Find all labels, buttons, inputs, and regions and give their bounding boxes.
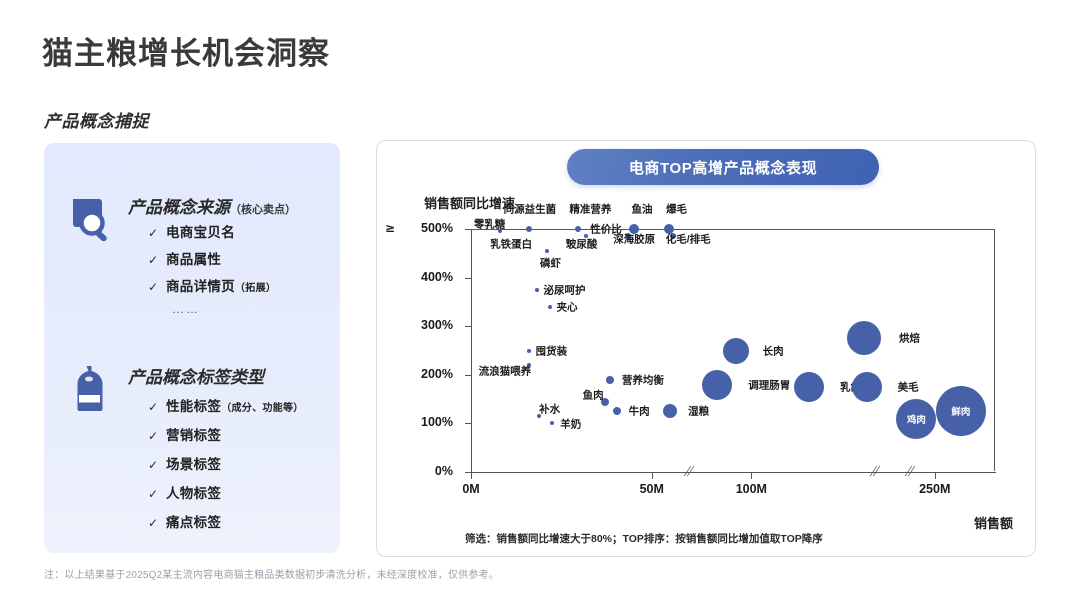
list-item[interactable]: ✓ 商品属性 [148, 248, 276, 268]
chart-banner: 电商TOP高增产品概念表现 [567, 149, 879, 185]
concept-source-heading-text: 产品概念来源 [128, 198, 230, 217]
check-icon: ✓ [148, 487, 166, 501]
chart-filter-note: 筛选：销售额同比增速大于80%；TOP排序：按销售额同比增加值取TOP降序 [465, 531, 823, 546]
concept-source-heading: 产品概念来源（核心卖点） [128, 193, 296, 218]
scatter-point-label: 流浪猫喂养 [479, 364, 532, 379]
y-axis-tick [465, 229, 472, 230]
y-axis-tick [465, 423, 472, 424]
scatter-bubble[interactable] [527, 349, 531, 353]
y-axis-ge-sign: ≥ [385, 221, 395, 235]
list-item-label: 性能标签 [166, 399, 221, 414]
y-axis-line [471, 229, 472, 473]
x-axis-tick [935, 472, 936, 479]
slide-root: 猫主粮增长机会洞察 产品概念捕捉 产品概念来源（核心卖点） ✓ 电商宝贝名 [0, 0, 1080, 608]
scatter-point-label: 牛肉 [629, 404, 650, 419]
list-item[interactable]: ✓ 电商宝贝名 [148, 221, 276, 241]
x-axis-tick-label: 250M [919, 482, 950, 496]
scatter-point-label: 零乳糖 [474, 217, 506, 232]
scatter-bubble[interactable] [548, 305, 552, 309]
list-item-label: 商品属性 [166, 252, 221, 267]
scatter-point-label: 精准营养 [569, 202, 611, 217]
scatter-bubble-label: 鸡肉 [907, 412, 926, 426]
scatter-bubble[interactable] [606, 376, 614, 384]
check-icon: ✓ [148, 280, 166, 294]
scatter-point-label: 烘焙 [899, 331, 920, 346]
check-icon: ✓ [148, 253, 166, 267]
scatter-point-label: 营养均衡 [622, 372, 664, 387]
list-item[interactable]: ✓ 性能标签（成分、功能等） [148, 395, 304, 415]
scatter-point-label: 磷虾 [540, 255, 561, 270]
price-tag-icon [62, 359, 118, 419]
scatter-bubble[interactable] [794, 372, 824, 402]
list-item[interactable]: ✓ 营销标签 [148, 424, 304, 444]
scatter-point-label: 囤货装 [536, 343, 568, 358]
x-axis-title: 销售额 [974, 513, 1013, 532]
y-axis-tick-label: 0% [391, 464, 453, 478]
scatter-point-label: 调理肠胃 [748, 377, 790, 392]
scatter-point-label: 羊奶 [560, 417, 581, 432]
y-axis-tick-label: 400% [391, 270, 453, 284]
y-axis-tick-label: 300% [391, 318, 453, 332]
scatter-bubble[interactable] [535, 288, 539, 292]
scatter-bubble[interactable] [526, 226, 532, 232]
scatter-point-label: 乳铁蛋白 [490, 237, 532, 252]
y-axis-tick-label: 500% [391, 221, 453, 235]
document-search-icon [62, 189, 118, 249]
scatter-bubble[interactable] [723, 338, 749, 364]
scatter-point-label: 玻尿酸 [566, 237, 598, 252]
scatter-point-label: 爆毛 [666, 202, 687, 217]
chart-banner-title: 电商TOP高增产品概念表现 [629, 157, 817, 178]
check-icon: ✓ [148, 226, 166, 240]
y-axis-tick-label: 100% [391, 415, 453, 429]
concept-tag-heading: 产品概念标签类型 [128, 363, 264, 388]
list-item-note: （拓展） [235, 283, 276, 294]
list-item[interactable]: ✓ 人物标签 [148, 482, 304, 502]
scatter-bubble[interactable] [613, 407, 621, 415]
list-item-label: 电商宝贝名 [166, 225, 235, 240]
scatter-point-label: 夹心 [557, 299, 578, 314]
x-axis-tick [471, 472, 472, 479]
scatter-point-label: 化毛/排毛 [666, 232, 711, 247]
scatter-point-label: 深海胶原 [613, 232, 655, 247]
check-icon: ✓ [148, 429, 166, 443]
scatter-point-label: 鱼肉 [583, 387, 604, 402]
y-axis-tick [465, 326, 472, 327]
scatter-bubble[interactable]: 鲜肉 [936, 386, 986, 436]
concept-source-heading-note: （核心卖点） [230, 204, 296, 216]
y-axis-tick-label: 200% [391, 367, 453, 381]
scatter-point-label: 湿粮 [688, 404, 709, 419]
x-axis-tick-label: 0M [462, 482, 479, 496]
check-icon: ✓ [148, 516, 166, 530]
x-axis-line [471, 472, 996, 473]
scatter-point-label: 同源益生菌 [504, 202, 557, 217]
scatter-bubble[interactable] [545, 249, 549, 253]
x-axis-tick-label: 100M [736, 482, 767, 496]
scatter-bubble[interactable] [575, 226, 581, 232]
list-item-note: （成分、功能等） [221, 403, 303, 414]
section-title: 产品概念捕捉 [44, 107, 149, 132]
scatter-point-label: 泌尿呵护 [544, 282, 586, 297]
check-icon: ✓ [148, 400, 166, 414]
scatter-point-label: 美毛 [898, 379, 919, 394]
y-axis-tick [465, 375, 472, 376]
x-axis-tick [751, 472, 752, 479]
concept-source-ellipsis: …… [172, 302, 200, 316]
concept-source-list: ✓ 电商宝贝名 ✓ 商品属性 ✓ 商品详情页（拓展） [148, 221, 276, 302]
list-item[interactable]: ✓ 商品详情页（拓展） [148, 275, 276, 295]
concept-capture-card: 产品概念来源（核心卖点） ✓ 电商宝贝名 ✓ 商品属性 ✓ 商品详情页（拓展） … [44, 143, 340, 553]
list-item[interactable]: ✓ 场景标签 [148, 453, 304, 473]
x-axis-tick-label: 50M [640, 482, 664, 496]
chart-panel: 电商TOP高增产品概念表现 销售额同比增速 销售额 0%100%200%300%… [376, 140, 1036, 557]
page-title: 猫主粮增长机会洞察 [42, 28, 330, 73]
list-item-label: 商品详情页 [166, 279, 235, 294]
check-icon: ✓ [148, 458, 166, 472]
scatter-point-label: 补水 [539, 402, 560, 417]
list-item-label: 人物标签 [166, 486, 221, 501]
scatter-bubble[interactable] [702, 370, 732, 400]
scatter-bubble-label: 鲜肉 [951, 404, 970, 418]
slide-footnote: 注：以上结果基于2025Q2某主流内容电商猫主粮品类数据初步清洗分析，未经深度校… [44, 566, 499, 581]
concept-tag-heading-text: 产品概念标签类型 [128, 368, 264, 387]
y-axis-title: 销售额同比增速 [424, 193, 515, 212]
list-item-label: 场景标签 [166, 457, 221, 472]
concept-tag-ellipsis: …… [172, 508, 200, 522]
x-axis-tick [652, 472, 653, 479]
y-axis-tick [465, 278, 472, 279]
scatter-bubble[interactable] [847, 321, 881, 355]
list-item-label: 营销标签 [166, 428, 221, 443]
scatter-bubble[interactable]: 鸡肉 [896, 399, 936, 439]
scatter-bubble[interactable] [550, 421, 554, 425]
scatter-point-label: 鱼油 [631, 202, 652, 217]
scatter-bubble[interactable] [663, 404, 677, 418]
scatter-bubble[interactable] [852, 372, 882, 402]
scatter-point-label: 长肉 [763, 343, 784, 358]
